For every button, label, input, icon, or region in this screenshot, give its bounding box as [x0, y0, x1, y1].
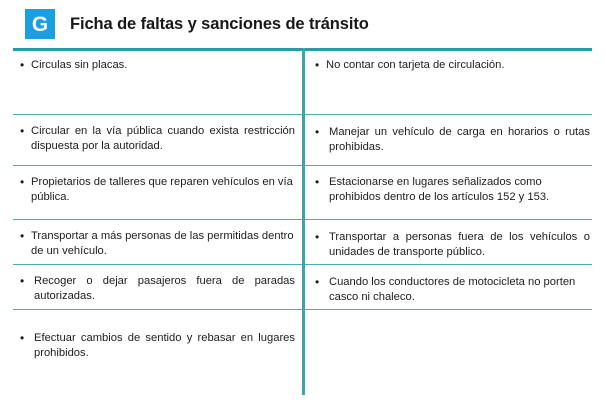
falta-text: Transportar a más personas de las permit… [31, 229, 295, 258]
page-header: G Ficha de faltas y sanciones de tránsit… [0, 0, 605, 48]
logo-letter: G [32, 14, 48, 35]
faltas-table: • Circulas sin placas. • Circular en la … [13, 48, 592, 400]
list-item: • Manejar un vehículo de carga en horari… [312, 119, 590, 154]
falta-text: Cuando los conductores de motocicleta no… [326, 275, 590, 304]
list-item: • Circular en la vía pública cuando exis… [17, 118, 295, 153]
falta-text: Circulas sin placas. [31, 58, 295, 73]
bullet-icon: • [17, 274, 31, 303]
bullet-icon: • [312, 175, 326, 204]
list-item: • Efectuar cambios de sentido y rebasar … [17, 325, 295, 360]
list-item: • Transportar a personas fuera de los ve… [312, 224, 590, 259]
bullet-icon: • [312, 58, 326, 73]
list-item: • Cuando los conductores de motocicleta … [312, 269, 590, 304]
falta-text: Estacionarse en lugares señalizados como… [326, 175, 590, 204]
bullet-icon: • [17, 58, 31, 73]
page-root: G Ficha de faltas y sanciones de tránsit… [0, 0, 605, 400]
list-item: • Estacionarse en lugares señalizados co… [312, 169, 590, 204]
bullet-icon: • [312, 230, 326, 259]
bullet-icon: • [17, 331, 31, 360]
list-item: • Recoger o dejar pasajeros fuera de par… [17, 268, 295, 303]
falta-text: Circular en la vía pública cuando exista… [31, 124, 295, 153]
bullet-icon: • [312, 275, 326, 304]
list-item: • No contar con tarjeta de circulación. [312, 52, 590, 73]
bullet-icon: • [17, 124, 31, 153]
gob-logo-icon: G [25, 9, 55, 39]
falta-text: No contar con tarjeta de circulación. [326, 58, 590, 73]
bullet-icon: • [17, 175, 31, 204]
list-item: • Circulas sin placas. [17, 52, 295, 73]
bullet-icon: • [17, 229, 31, 258]
falta-text: Recoger o dejar pasajeros fuera de parad… [31, 274, 295, 303]
column-divider [302, 48, 305, 395]
bullet-icon: • [312, 125, 326, 154]
list-item: • Propietarios de talleres que reparen v… [17, 169, 295, 204]
falta-text: Propietarios de talleres que reparen veh… [31, 175, 295, 204]
falta-text: Efectuar cambios de sentido y rebasar en… [31, 331, 295, 360]
falta-text: Manejar un vehículo de carga en horarios… [326, 125, 590, 154]
page-title: Ficha de faltas y sanciones de tránsito [70, 15, 369, 34]
falta-text: Transportar a personas fuera de los vehí… [326, 230, 590, 259]
list-item: • Transportar a más personas de las perm… [17, 223, 295, 258]
